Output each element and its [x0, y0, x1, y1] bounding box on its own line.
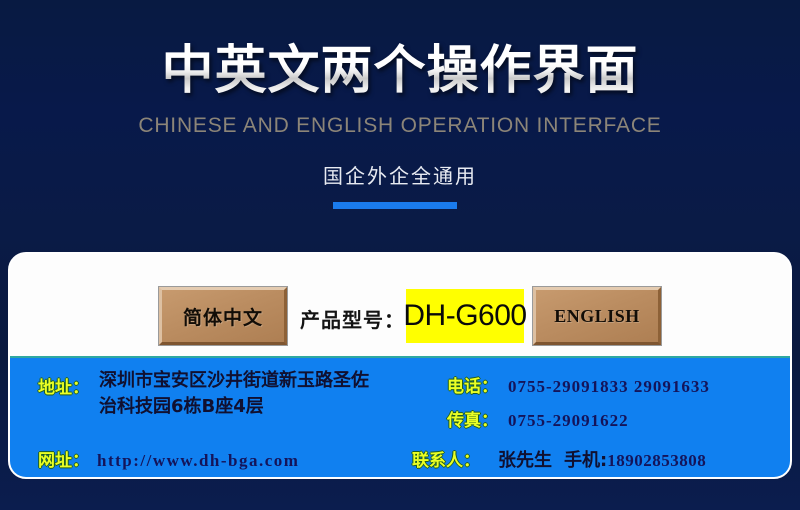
fax-block: 传真： 0755-29091622	[447, 406, 629, 431]
contact-label: 联系人：	[412, 446, 480, 471]
accent-underline	[333, 202, 457, 209]
phone-value: 0755-29091833 29091633	[508, 377, 710, 397]
fax-label: 传真：	[447, 406, 498, 431]
language-control-row: 简体中文 产品型号： DH-G600 ENGLISH	[10, 254, 790, 356]
phone-block: 电话： 0755-29091833 29091633	[447, 372, 710, 397]
promo-banner: 中英文两个操作界面 CHINESE AND ENGLISH OPERATION …	[0, 0, 800, 510]
website-block: 网址： http://www.dh-bga.com	[38, 446, 299, 471]
hero-section: 中英文两个操作界面 CHINESE AND ENGLISH OPERATION …	[0, 0, 800, 250]
phone-label: 电话：	[447, 372, 498, 397]
contact-name: 张先生	[498, 446, 552, 472]
fax-value: 0755-29091622	[508, 411, 629, 431]
address-line-2: 治科技园6栋B座4层	[99, 394, 369, 420]
mobile-label: 手机:	[564, 446, 607, 472]
website-link[interactable]: http://www.dh-bga.com	[97, 451, 299, 471]
chinese-language-button-label: 简体中文	[183, 303, 263, 330]
page-subtitle: CHINESE AND ENGLISH OPERATION INTERFACE	[0, 114, 800, 138]
english-language-button-label: ENGLISH	[554, 306, 640, 327]
address-line-1: 深圳市宝安区沙井街道新玉路圣佐	[99, 368, 369, 394]
chinese-language-button[interactable]: 简体中文	[159, 287, 287, 345]
product-model-value: DH-G600	[403, 299, 526, 333]
address-label: 地址：	[38, 368, 89, 398]
website-label: 网址：	[38, 446, 89, 471]
company-info-region: 地址： 深圳市宝安区沙井街道新玉路圣佐 治科技园6栋B座4层 电话： 0755-…	[10, 356, 790, 479]
address-block: 地址： 深圳市宝安区沙井街道新玉路圣佐 治科技园6栋B座4层	[38, 368, 369, 420]
page-title: 中英文两个操作界面	[0, 40, 800, 102]
contact-block: 联系人： 张先生 手机: 18902853808	[412, 446, 706, 472]
english-language-button[interactable]: ENGLISH	[533, 287, 661, 345]
mobile-value: 18902853808	[607, 451, 706, 471]
page-tagline: 国企外企全通用	[0, 160, 800, 189]
address-lines: 深圳市宝安区沙井街道新玉路圣佐 治科技园6栋B座4层	[99, 368, 369, 420]
interface-panel: 简体中文 产品型号： DH-G600 ENGLISH 地址： 深圳市宝安区沙井街…	[8, 252, 792, 479]
product-model-label: 产品型号：	[300, 304, 405, 333]
product-model-field[interactable]: DH-G600	[406, 289, 524, 343]
